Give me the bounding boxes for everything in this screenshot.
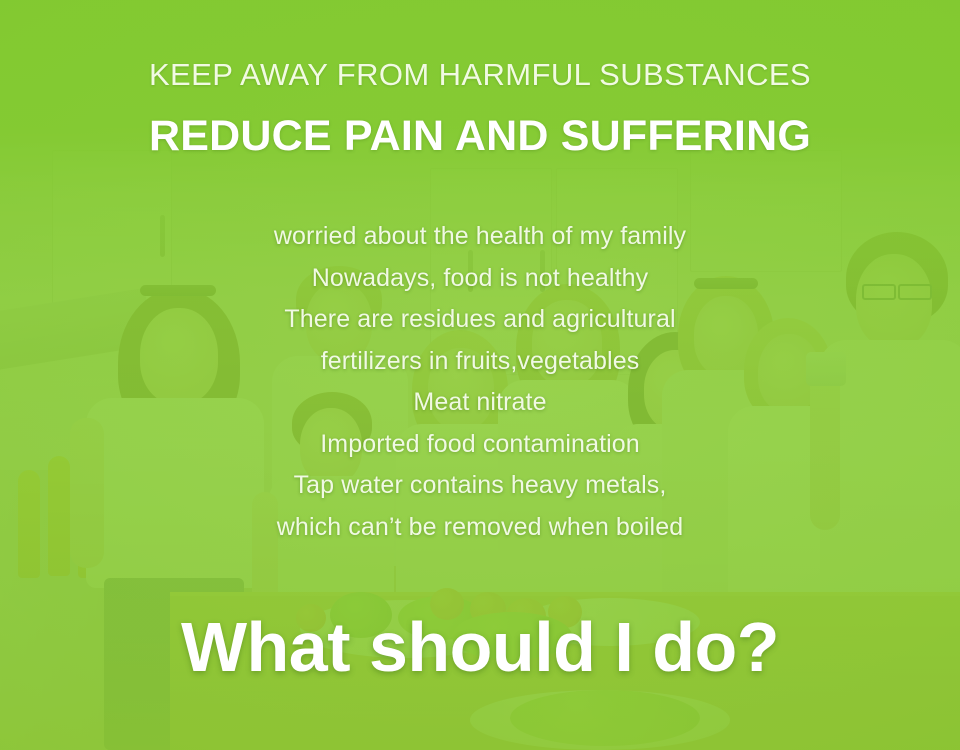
body-line: Imported food contamination (0, 424, 960, 466)
banner-content: KEEP AWAY FROM HARMFUL SUBSTANCES REDUCE… (0, 0, 960, 750)
body-copy-list: worried about the health of my family No… (0, 216, 960, 548)
main-headline: REDUCE PAIN AND SUFFERING (0, 112, 960, 161)
body-line: There are residues and agricultural (0, 299, 960, 341)
kicker-headline: KEEP AWAY FROM HARMFUL SUBSTANCES (0, 58, 960, 92)
closing-question: What should I do? (0, 611, 960, 685)
body-line: worried about the health of my family (0, 216, 960, 258)
body-line: fertilizers in fruits,vegetables (0, 341, 960, 383)
body-line: Nowadays, food is not healthy (0, 258, 960, 300)
body-line: Meat nitrate (0, 382, 960, 424)
body-line: Tap water contains heavy metals, (0, 465, 960, 507)
promo-banner: KEEP AWAY FROM HARMFUL SUBSTANCES REDUCE… (0, 0, 960, 750)
body-line: which can’t be removed when boiled (0, 507, 960, 549)
